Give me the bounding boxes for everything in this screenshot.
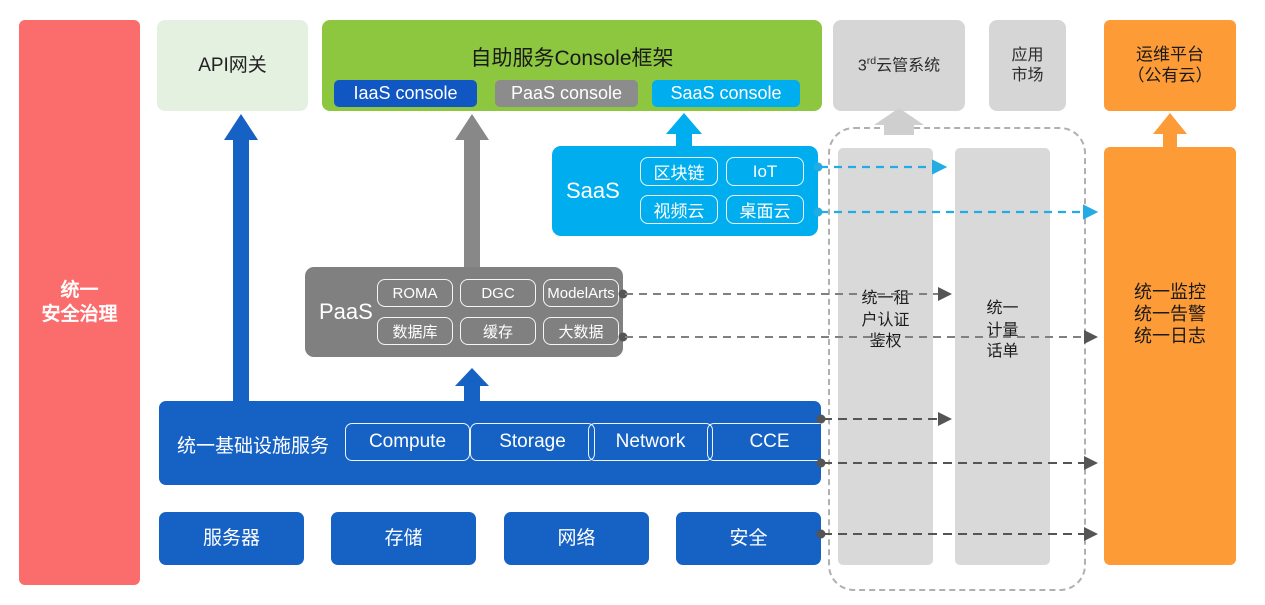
third-party-cloud-mgmt-box: 3rd云管系统 (833, 20, 965, 111)
ops-platform-body-box: 统一监控 统一告警 统一日志 (1104, 147, 1236, 565)
arrow-saas-to-console (666, 113, 702, 146)
app-market-line1: 应用 (1011, 46, 1043, 66)
saas-console-button[interactable]: SaaS console (652, 80, 800, 107)
unified-metering-label: 统一 计量 话单 (955, 298, 1050, 363)
hardware-2-label: 网络 (557, 527, 595, 550)
iaas-console-button[interactable]: IaaS console (334, 80, 477, 107)
infra-item-3-label: CCE (749, 431, 789, 453)
saas-panel-label: SaaS (566, 178, 620, 204)
saas-item-2-label: 视频云 (654, 197, 705, 222)
col0-line2: 户认证 (838, 310, 933, 332)
paas-item-1-label: DGC (481, 285, 514, 302)
unified-tenant-auth-label: 统一租 户认证 鉴权 (838, 288, 933, 353)
paas-item-modelarts[interactable]: ModelArts (543, 279, 619, 307)
third-party-cloud-mgmt-label: 3rd云管系统 (858, 55, 940, 76)
hardware-server-box: 服务器 (159, 512, 304, 565)
col0-line1: 统一租 (838, 288, 933, 310)
ops-platform-header-box: 运维平台 （公有云） (1104, 20, 1236, 111)
ops-body-line1: 统一监控 (1134, 282, 1206, 304)
col1-line2: 计量 (955, 320, 1050, 342)
saas-item-iot[interactable]: IoT (726, 157, 804, 186)
infra-item-1-label: Storage (499, 431, 566, 453)
ops-platform-header-line1: 运维平台 (1136, 45, 1204, 66)
third-party-prefix: 3 (858, 57, 867, 74)
paas-panel-label: PaaS (319, 299, 373, 325)
saas-item-1-label: IoT (753, 162, 778, 182)
arrow-paas-to-console (455, 114, 489, 267)
paas-item-bigdata[interactable]: 大数据 (543, 317, 619, 345)
ops-body-line3: 统一日志 (1134, 326, 1206, 348)
infra-item-0-label: Compute (369, 431, 446, 453)
unified-tenant-auth-column: 统一租 户认证 鉴权 (838, 148, 933, 565)
app-market-line2: 市场 (1011, 66, 1043, 86)
console-frame-title: 自助服务Console框架 (322, 42, 822, 72)
paas-item-roma[interactable]: ROMA (377, 279, 453, 307)
paas-item-2-label: ModelArts (547, 285, 615, 302)
infra-item-network[interactable]: Network (588, 423, 713, 461)
saas-item-desktop-cloud[interactable]: 桌面云 (726, 195, 804, 224)
api-gateway-box: API网关 (157, 20, 308, 111)
paas-item-dgc[interactable]: DGC (460, 279, 536, 307)
hardware-security-box: 安全 (676, 512, 821, 565)
security-pillar-line2: 安全治理 (41, 303, 117, 326)
paas-item-0-label: ROMA (393, 285, 438, 302)
paas-item-cache[interactable]: 缓存 (460, 317, 536, 345)
arrow-ops-body-to-header (1153, 113, 1187, 147)
col1-line3: 话单 (955, 341, 1050, 363)
hardware-storage-box: 存储 (331, 512, 476, 565)
security-pillar-line1: 统一 (60, 279, 98, 302)
hardware-network-box: 网络 (504, 512, 649, 565)
app-market-box: 应用 市场 (989, 20, 1066, 111)
ops-body-line2: 统一告警 (1134, 304, 1206, 326)
paas-panel: PaaS ROMA DGC ModelArts 数据库 缓存 大数据 (305, 267, 623, 357)
paas-item-database[interactable]: 数据库 (377, 317, 453, 345)
unified-infrastructure-bar: 统一基础设施服务 Compute Storage Network CCE (159, 401, 821, 485)
arrow-infra-to-api-gateway (224, 114, 258, 401)
third-party-superscript: rd (867, 55, 876, 67)
unified-metering-column: 统一 计量 话单 (955, 148, 1050, 565)
security-governance-pillar: 统一 安全治理 (19, 20, 140, 585)
saas-item-3-label: 桌面云 (740, 197, 791, 222)
saas-console-label: SaaS console (670, 83, 781, 104)
col1-line1: 统一 (955, 298, 1050, 320)
iaas-console-label: IaaS console (353, 83, 457, 104)
paas-console-button[interactable]: PaaS console (495, 80, 638, 107)
hardware-1-label: 存储 (384, 527, 422, 550)
unified-infrastructure-label: 统一基础设施服务 (177, 431, 329, 458)
saas-item-blockchain[interactable]: 区块链 (640, 157, 718, 186)
paas-item-5-label: 大数据 (558, 321, 603, 342)
saas-panel: SaaS 区块链 IoT 视频云 桌面云 (552, 146, 818, 236)
col0-line3: 鉴权 (838, 331, 933, 353)
arrow-infra-to-paas (455, 368, 489, 401)
saas-item-video-cloud[interactable]: 视频云 (640, 195, 718, 224)
saas-item-0-label: 区块链 (654, 159, 705, 184)
hardware-0-label: 服务器 (203, 527, 260, 550)
infra-item-storage[interactable]: Storage (470, 423, 595, 461)
self-service-console-frame: 自助服务Console框架 IaaS console PaaS console … (322, 20, 822, 111)
paas-item-4-label: 缓存 (483, 321, 513, 342)
paas-console-label: PaaS console (511, 83, 622, 104)
paas-item-3-label: 数据库 (392, 321, 437, 342)
ops-platform-header-line2: （公有云） (1128, 66, 1213, 87)
architecture-diagram: 统一 安全治理 API网关 自助服务Console框架 IaaS console… (0, 0, 1265, 605)
infra-item-compute[interactable]: Compute (345, 423, 470, 461)
api-gateway-label: API网关 (198, 54, 267, 77)
third-party-suffix: 云管系统 (876, 57, 940, 74)
hardware-3-label: 安全 (729, 527, 767, 550)
infra-item-2-label: Network (616, 431, 686, 453)
infra-item-cce[interactable]: CCE (707, 423, 832, 461)
